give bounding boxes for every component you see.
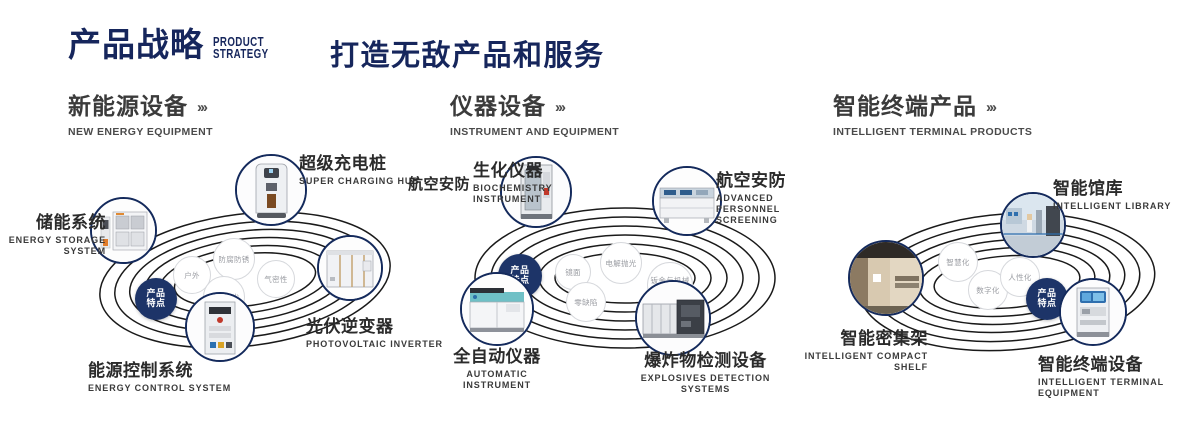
label-en: BIOCHEMISTRY INSTRUMENT [473, 183, 559, 205]
section-title-en: INSTRUMENT AND EQUIPMENT [450, 126, 619, 138]
label-aviation-security-side: 航空安防 [408, 176, 470, 193]
label-cn: 生化仪器 [473, 162, 559, 181]
core-label: 产品特点 [146, 289, 165, 310]
label-cn: 航空安防 [408, 176, 470, 193]
label-photovoltaic-inverter: 光伏逆变器 PHOTOVOLTAIC INVERTER [306, 318, 443, 350]
feature-bubble: 防腐防锈 [213, 238, 255, 280]
feature-label: 气密性 [264, 275, 287, 284]
label-cn: 智能馆库 [1053, 180, 1171, 199]
label-super-charging-hub: 超级充电桩 SUPER CHARGING HUB [299, 155, 420, 187]
chevrons-icon: ››› [197, 99, 206, 116]
feature-label: 户外 [184, 271, 200, 280]
label-cn: 爆炸物检测设备 [628, 352, 783, 371]
section-title-cn: 智能终端产品 [833, 96, 977, 119]
label-en: AUTOMATIC INSTRUMENT [432, 369, 562, 391]
label-biochemistry-instrument: 生化仪器 BIOCHEMISTRY INSTRUMENT [473, 162, 559, 205]
charging-pile-photo [237, 156, 305, 224]
label-en: INTELLIGENT LIBRARY [1053, 201, 1171, 212]
node-energy-control-system[interactable] [185, 292, 255, 362]
core-bubble: 产品特点 [135, 278, 177, 320]
node-intelligent-compact-shelf[interactable] [848, 240, 924, 316]
section-title-intelligent: 智能终端产品 ››› INTELLIGENT TERMINAL PRODUCTS [833, 96, 1032, 138]
label-automatic-instrument: 全自动仪器 AUTOMATIC INSTRUMENT [432, 348, 562, 391]
label-explosives-detection-systems: 爆炸物检测设备 EXPLOSIVES DETECTION SYSTEMS [628, 352, 783, 395]
label-en: ENERGY STORAGE SYSTEM [0, 235, 106, 257]
poster-canvas: 产品战略 PRODUCT STRATEGY 打造无敌产品和服务 新能源设备 ››… [0, 0, 1200, 422]
label-energy-control-system: 能源控制系统 ENERGY CONTROL SYSTEM [88, 362, 231, 394]
self-service-kiosk-photo [1061, 280, 1125, 344]
section-title-cn: 新能源设备 [68, 96, 188, 119]
label-en: EXPLOSIVES DETECTION SYSTEMS [628, 373, 783, 395]
chevrons-icon: ››› [986, 99, 995, 116]
label-en: INTELLIGENT TERMINAL EQUIPMENT [1038, 377, 1200, 399]
label-cn: 智能密集架 [800, 330, 928, 349]
label-intelligent-terminal-equipment: 智能终端设备 INTELLIGENT TERMINAL EQUIPMENT [1038, 356, 1200, 399]
node-photovoltaic-inverter[interactable] [317, 235, 383, 301]
label-intelligent-library: 智能馆库 INTELLIGENT LIBRARY [1053, 180, 1171, 212]
feature-label: 数字化 [976, 286, 999, 295]
feature-bubble: 零缺陷 [566, 282, 606, 322]
label-en: ENERGY CONTROL SYSTEM [88, 383, 231, 394]
label-cn: 智能终端设备 [1038, 356, 1200, 375]
node-automatic-instrument[interactable] [460, 272, 534, 346]
page-title: 产品战略 PRODUCT STRATEGY [68, 28, 284, 61]
feature-label: 智慧化 [946, 258, 969, 267]
label-intelligent-compact-shelf: 智能密集架 INTELLIGENT COMPACT SHELF [800, 330, 928, 373]
feature-bubble: 电解抛光 [600, 242, 642, 284]
chevrons-icon: ››› [555, 99, 564, 116]
label-cn: 超级充电桩 [299, 155, 420, 174]
section-title-cn: 仪器设备 [450, 96, 546, 119]
compact-shelf-photo [850, 242, 922, 314]
label-energy-storage-system: 储能系统 ENERGY STORAGE SYSTEM [0, 214, 106, 257]
feature-label: 人性化 [1008, 273, 1031, 282]
feature-label: 电解抛光 [605, 259, 636, 268]
node-super-charging-hub[interactable] [235, 154, 307, 226]
node-advanced-personnel-screening[interactable] [652, 166, 722, 236]
core-label: 产品特点 [1037, 289, 1056, 310]
label-cn: 航空安防 [716, 172, 812, 191]
explosives-detector-photo [637, 282, 709, 354]
feature-label: 镜面 [565, 268, 581, 277]
page-subtitle: 打造无敌产品和服务 [330, 32, 605, 74]
label-cn: 储能系统 [0, 214, 106, 233]
feature-bubble: 气密性 [257, 260, 295, 298]
node-explosives-detection-systems[interactable] [635, 280, 711, 356]
label-advanced-personnel-screening: 航空安防 ADVANCED PERSONNEL SCREENING [716, 172, 812, 226]
section-title-instrument: 仪器设备 ››› INSTRUMENT AND EQUIPMENT [450, 96, 619, 138]
screening-machine-photo [654, 168, 720, 234]
label-cn: 全自动仪器 [432, 348, 562, 367]
feature-label: 零缺陷 [574, 298, 597, 307]
control-cabinet-photo [187, 294, 253, 360]
section-title-new-energy: 新能源设备 ››› NEW ENERGY EQUIPMENT [68, 96, 213, 138]
pv-inverter-photo [319, 237, 381, 299]
label-en: SUPER CHARGING HUB [299, 176, 420, 187]
node-intelligent-terminal-equipment[interactable] [1059, 278, 1127, 346]
label-en: ADVANCED PERSONNEL SCREENING [716, 193, 812, 226]
section-title-en: INTELLIGENT TERMINAL PRODUCTS [833, 126, 1032, 138]
label-en: PHOTOVOLTAIC INVERTER [306, 339, 443, 350]
page-title-cn: 产品战略 [68, 28, 204, 61]
label-en: INTELLIGENT COMPACT SHELF [800, 351, 928, 373]
automatic-instrument-photo [462, 274, 532, 344]
label-cn: 能源控制系统 [88, 362, 231, 381]
page-title-en: PRODUCT STRATEGY [213, 36, 268, 60]
label-cn: 光伏逆变器 [306, 318, 443, 337]
page-title-en-line2: STRATEGY [213, 48, 268, 60]
feature-label: 防腐防锈 [218, 255, 249, 264]
section-title-en: NEW ENERGY EQUIPMENT [68, 126, 213, 138]
